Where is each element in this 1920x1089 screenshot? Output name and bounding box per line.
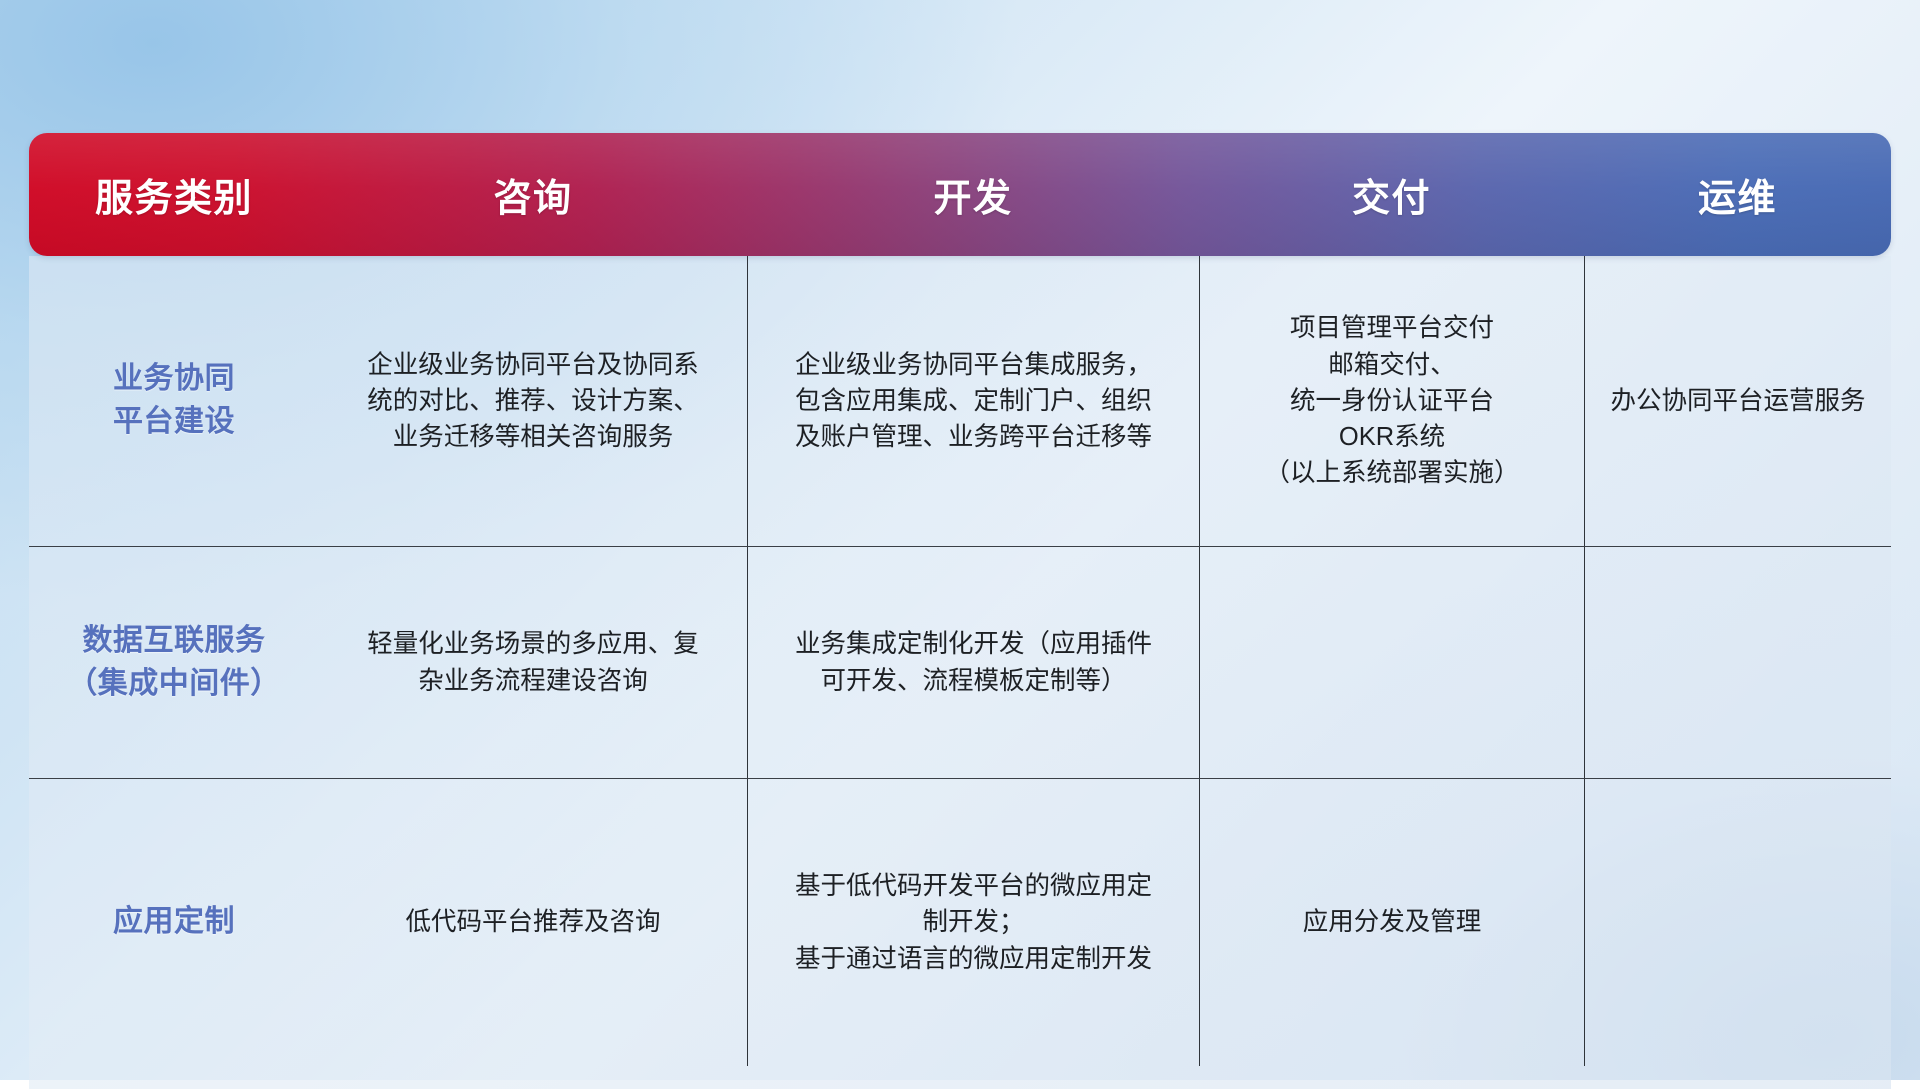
service-matrix-table: 服务类别 咨询 开发 交付 运维 业务协同 平台建设 企业级业务协同平台及协同系… (29, 133, 1891, 958)
cell-delivery: 应用分发及管理 (1199, 779, 1584, 1066)
slide-canvas: 服务类别 咨询 开发 交付 运维 业务协同 平台建设 企业级业务协同平台及协同系… (0, 0, 1920, 1080)
cell-delivery: 项目管理平台交付 邮箱交付、 统一身份认证平台 OKR系统 （以上系统部署实施） (1199, 256, 1584, 546)
cell-consulting: 低代码平台推荐及咨询 (319, 779, 747, 1066)
cell-development: 业务集成定制化开发（应用插件 可开发、流程模板定制等） (747, 547, 1199, 778)
cell-consulting: 企业级业务协同平台及协同系 统的对比、推荐、设计方案、 业务迁移等相关咨询服务 (319, 256, 747, 546)
cell-operations: 办公协同平台运营服务 (1584, 256, 1891, 546)
table-body: 业务协同 平台建设 企业级业务协同平台及协同系 统的对比、推荐、设计方案、 业务… (29, 256, 1891, 1066)
table-header-row: 服务类别 咨询 开发 交付 运维 (29, 133, 1891, 256)
cell-development: 基于低代码开发平台的微应用定 制开发； 基于通过语言的微应用定制开发 (747, 779, 1199, 1066)
table-row: 应用定制 低代码平台推荐及咨询 基于低代码开发平台的微应用定 制开发； 基于通过… (29, 778, 1891, 1066)
column-header-operations: 运维 (1584, 167, 1891, 222)
row-category-label: 应用定制 (29, 779, 319, 1066)
column-header-delivery: 交付 (1199, 167, 1584, 222)
row-category-label: 数据互联服务 （集成中间件） (29, 547, 319, 778)
table-row: 业务协同 平台建设 企业级业务协同平台及协同系 统的对比、推荐、设计方案、 业务… (29, 256, 1891, 546)
row-category-label: 业务协同 平台建设 (29, 256, 319, 546)
column-header-consulting: 咨询 (319, 167, 747, 222)
column-header-development: 开发 (747, 167, 1199, 222)
cell-operations (1584, 779, 1891, 1066)
cell-delivery (1199, 547, 1584, 778)
cell-development: 企业级业务协同平台集成服务， 包含应用集成、定制门户、组织 及账户管理、业务跨平… (747, 256, 1199, 546)
cell-operations (1584, 547, 1891, 778)
column-header-service-category: 服务类别 (29, 167, 319, 222)
cell-consulting: 轻量化业务场景的多应用、复 杂业务流程建设咨询 (319, 547, 747, 778)
table-row: 数据互联服务 （集成中间件） 轻量化业务场景的多应用、复 杂业务流程建设咨询 业… (29, 546, 1891, 778)
table-header-bar: 服务类别 咨询 开发 交付 运维 (29, 133, 1891, 256)
